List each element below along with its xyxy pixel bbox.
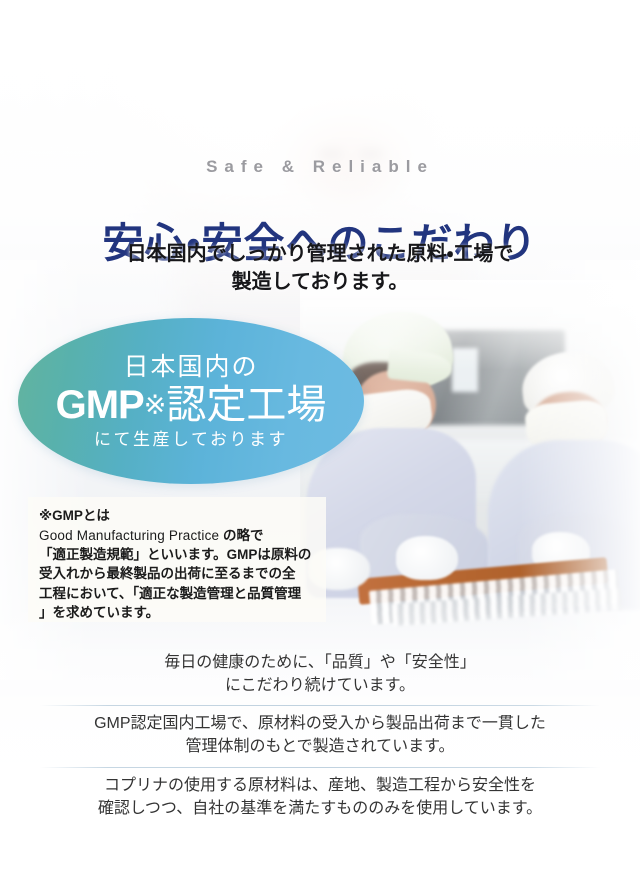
gmp-note-line1: Good Manufacturing Practice の略で	[39, 526, 315, 545]
gmp-note-title: ※GMPとは	[39, 506, 315, 525]
gmp-full-name: Good Manufacturing Practice	[39, 528, 219, 543]
statement-item: 毎日の健康のために、「品質」や「安全性」 にこだわり続けています。	[40, 645, 600, 705]
reference-mark-icon: ※	[144, 390, 167, 420]
statement-line: 管理体制のもとで製造されています。	[40, 736, 600, 759]
content-layer: Safe & Reliable 安心・安全へのこだわり 日本国内でしっかり管理さ…	[0, 0, 640, 896]
hero-subheading: 日本国内でしっかり管理された原料・工場で 製造しております。	[0, 240, 640, 297]
hero-eyebrow: Safe & Reliable	[0, 157, 640, 177]
statement-item: コプリナの使用する原材料は、産地、製造工程から安全性を 確認しつつ、自社の基準を…	[40, 768, 600, 828]
gmp-note-body: Good Manufacturing Practice の略で 「適正製造規範」…	[39, 526, 315, 622]
page-root: Safe & Reliable 安心・安全へのこだわり 日本国内でしっかり管理さ…	[0, 0, 640, 896]
gmp-note-line1-tail: の略で	[219, 528, 263, 543]
gmp-note-line3: 受入れから最終製品の出荷に至るまでの全	[39, 564, 315, 583]
gmp-badge: 日本国内の GMP※認定工場 にて生産しております	[18, 318, 364, 484]
gmp-note-line4: 工程において、「適正な製造管理と品質管理	[39, 584, 315, 603]
gmp-note-line2: 「適正製造規範」といいます。GMPは原料の	[39, 545, 315, 564]
statement-line: 毎日の健康のために、「品質」や「安全性」	[40, 652, 600, 675]
gmp-badge-line3: にて生産しております	[94, 431, 288, 450]
statement-line: コプリナの使用する原材料は、産地、製造工程から安全性を	[40, 775, 600, 798]
statement-item: GMP認定国内工場で、原材料の受入から製品出荷まで一貫した 管理体制のもとで製造…	[40, 706, 600, 766]
statement-line: にこだわり続けています。	[40, 675, 600, 698]
gmp-note-box: ※GMPとは Good Manufacturing Practice の略で 「…	[28, 497, 326, 622]
gmp-acronym: GMP	[56, 383, 144, 427]
gmp-note-line5: 」を求めています。	[39, 603, 315, 622]
gmp-badge-content: 日本国内の GMP※認定工場 にて生産しております	[18, 318, 364, 484]
statement-line: 確認しつつ、自社の基準を満たすもののみを使用しています。	[40, 798, 600, 821]
gmp-badge-certified-factory: 認定工場	[166, 383, 326, 427]
statement-list: 毎日の健康のために、「品質」や「安全性」 にこだわり続けています。 GMP認定国…	[40, 645, 600, 828]
gmp-badge-line2: GMP※認定工場	[56, 383, 327, 428]
hero-subheading-line1: 日本国内でしっかり管理された原料・工場で	[0, 240, 640, 268]
gmp-badge-line1: 日本国内の	[123, 354, 258, 382]
statement-line: GMP認定国内工場で、原材料の受入から製品出荷まで一貫した	[40, 713, 600, 736]
hero-subheading-line2: 製造しております。	[0, 268, 640, 296]
